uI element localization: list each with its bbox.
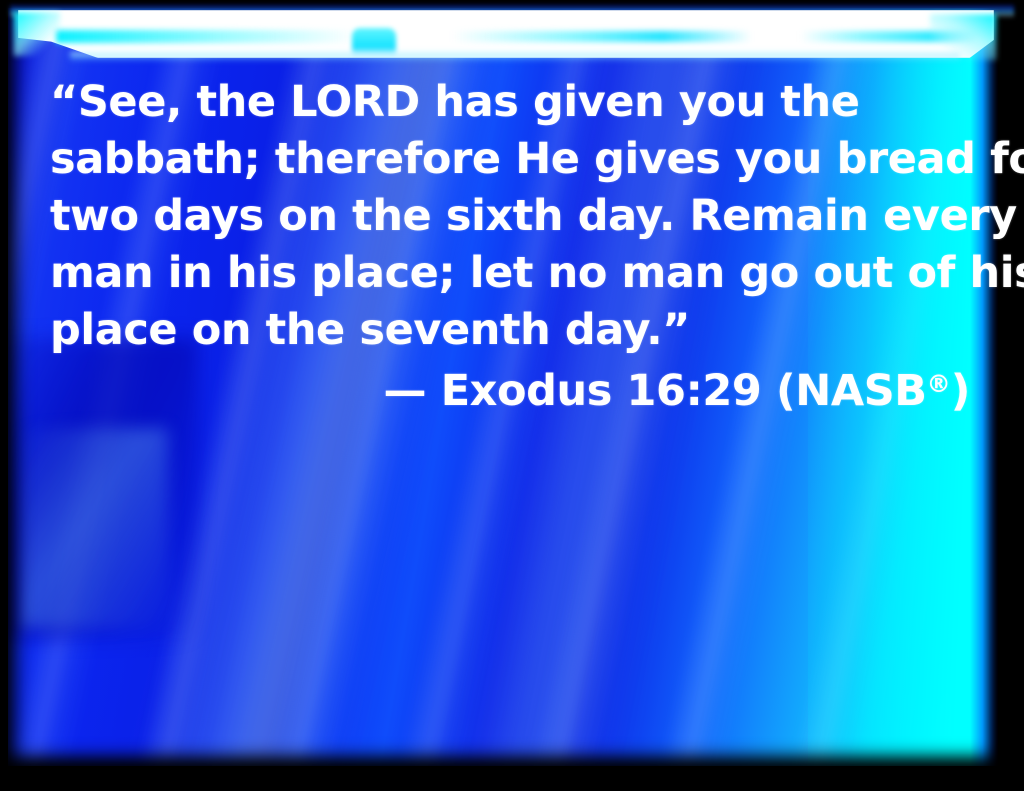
verse-slide: “See, the LORD has given you the sabbath…: [0, 0, 1024, 791]
attribution-reference: 16:29: [627, 366, 762, 416]
banner-under-glow: [70, 52, 960, 62]
banner-cyan-notch: [352, 28, 396, 54]
verse-attribution: — Exodus 16:29 (NASB®): [50, 358, 970, 417]
banner-cyan-streak-left: [56, 30, 356, 43]
attribution-book: Exodus: [441, 366, 612, 416]
verse-line-4: man in his place; let no man go out of h…: [50, 245, 970, 302]
verse-line-5: place on the seventh day.”: [50, 302, 970, 359]
banner-cyan-streak-middle: [452, 31, 752, 42]
background-light-wedge: [18, 428, 168, 628]
attribution-translation-open: (NASB: [776, 366, 927, 416]
attribution-dash: —: [384, 366, 427, 416]
verse-text: “See, the LORD has given you the sabbath…: [50, 74, 970, 359]
banner-left-chamfer-glow: [14, 12, 60, 56]
registered-trademark-icon: ®: [927, 370, 951, 398]
attribution-translation-close: ): [951, 366, 970, 416]
verse-line-1: “See, the LORD has given you the: [50, 74, 970, 131]
background-cyan-edge: [970, 8, 998, 766]
verse-line-3: two days on the sixth day. Remain every: [50, 188, 970, 245]
verse-line-2: sabbath; therefore He gives you bread fo…: [50, 131, 970, 188]
